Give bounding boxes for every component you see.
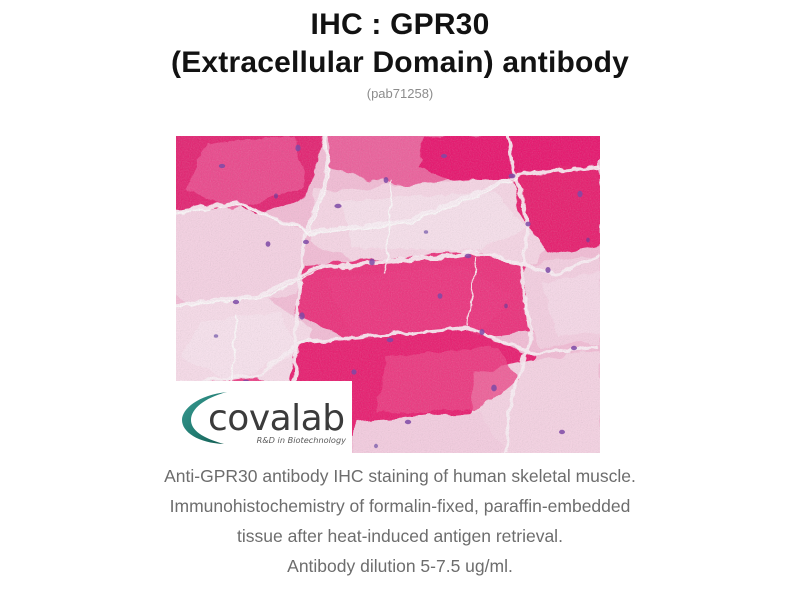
caption-line-3: tissue after heat-induced antigen retrie…: [0, 521, 800, 551]
title-line-secondary: (Extracellular Domain) antibody: [0, 44, 800, 82]
figure-caption: Anti-GPR30 antibody IHC staining of huma…: [0, 461, 800, 581]
page-title: IHC : GPR30 (Extracellular Domain) antib…: [0, 0, 800, 103]
figure-container: covalab R&D in Biotechnology: [176, 136, 600, 453]
covalab-logo: covalab R&D in Biotechnology: [176, 381, 352, 453]
covalab-logo-svg: covalab R&D in Biotechnology: [180, 387, 348, 447]
logo-wordmark: covalab: [208, 398, 345, 439]
title-line-primary: IHC : GPR30: [0, 6, 800, 44]
catalog-number: (pab71258): [0, 85, 800, 103]
caption-line-1: Anti-GPR30 antibody IHC staining of huma…: [0, 461, 800, 491]
caption-line-2: Immunohistochemistry of formalin-fixed, …: [0, 491, 800, 521]
caption-line-4: Antibody dilution 5-7.5 ug/ml.: [0, 551, 800, 581]
logo-tagline: R&D in Biotechnology: [257, 435, 347, 445]
